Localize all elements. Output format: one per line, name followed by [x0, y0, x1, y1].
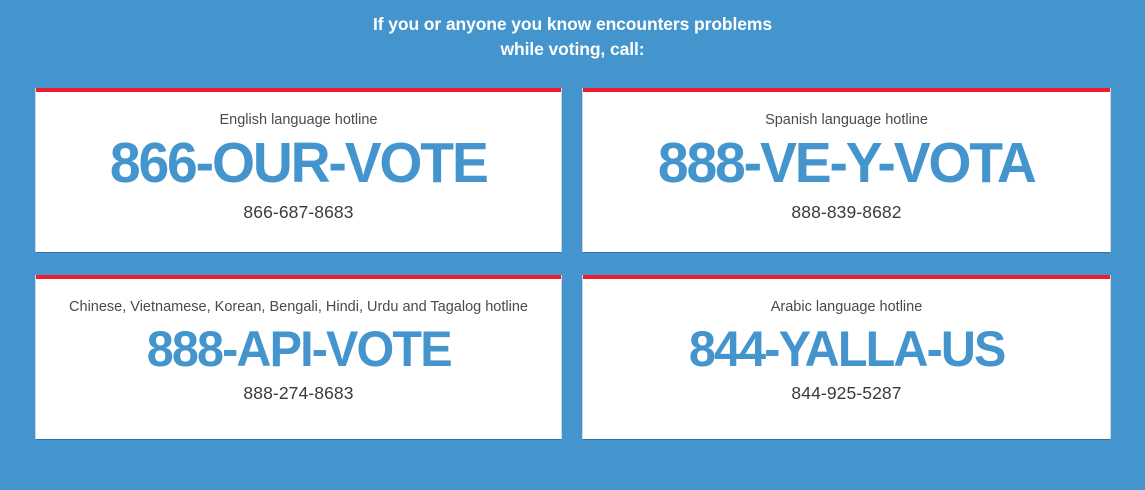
hotline-card-arabic[interactable]: Arabic language hotline 844-YALLA-US 844… [583, 275, 1110, 439]
voter-hotline-panel: If you or anyone you know encounters pro… [0, 0, 1145, 490]
hotline-vanity-number[interactable]: 888-VE-Y-VOTA [658, 132, 1035, 196]
headline-line-1: If you or anyone you know encounters pro… [0, 12, 1145, 37]
hotline-label: Spanish language hotline [765, 112, 928, 129]
hotline-card-asian-languages[interactable]: Chinese, Vietnamese, Korean, Bengali, Hi… [36, 275, 561, 439]
hotline-numeric-number[interactable]: 866-687-8683 [243, 202, 353, 223]
hotline-vanity-number[interactable]: 888-API-VOTE [146, 321, 450, 377]
hotline-vanity-number[interactable]: 844-YALLA-US [689, 321, 1005, 377]
page-headline: If you or anyone you know encounters pro… [0, 0, 1145, 62]
hotline-numeric-number[interactable]: 844-925-5287 [791, 383, 901, 404]
hotline-card-english[interactable]: English language hotline 866-OUR-VOTE 86… [36, 88, 561, 252]
hotline-label: Arabic language hotline [771, 299, 923, 316]
hotline-label: English language hotline [219, 112, 377, 129]
hotline-card-spanish[interactable]: Spanish language hotline 888-VE-Y-VOTA 8… [583, 88, 1110, 252]
hotline-numeric-number[interactable]: 888-274-8683 [243, 383, 353, 404]
hotline-numeric-number[interactable]: 888-839-8682 [791, 202, 901, 223]
hotline-label: Chinese, Vietnamese, Korean, Bengali, Hi… [69, 299, 528, 316]
hotline-vanity-number[interactable]: 866-OUR-VOTE [110, 132, 487, 196]
hotline-card-grid: English language hotline 866-OUR-VOTE 86… [0, 62, 1145, 439]
headline-line-2: while voting, call: [0, 37, 1145, 62]
